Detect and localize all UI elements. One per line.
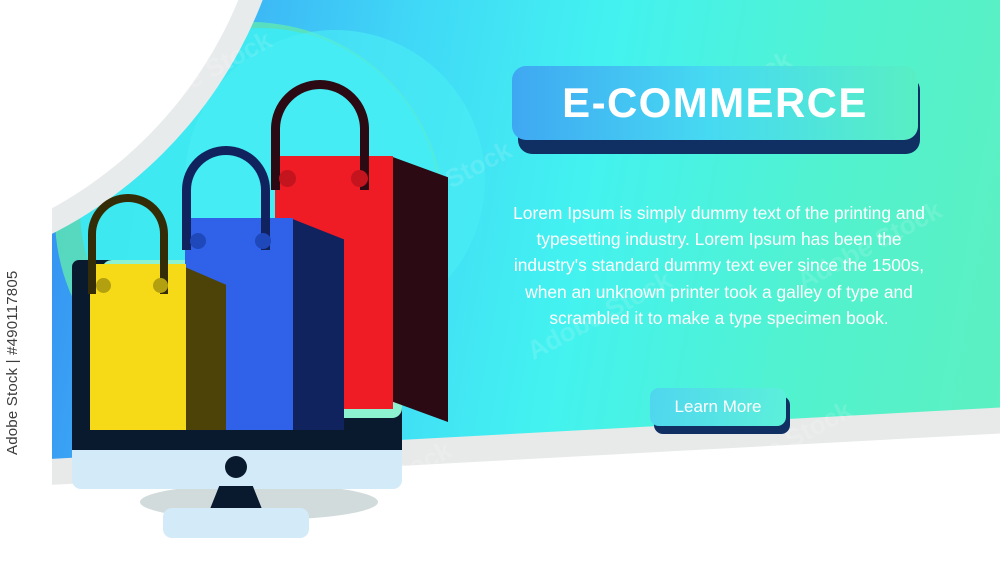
learn-more-button[interactable]: Learn More <box>650 388 790 430</box>
shopping-bag-blue-eyelet-left <box>190 233 206 249</box>
ecommerce-illustration <box>60 60 520 540</box>
shopping-bag-red-eyelet-right <box>351 170 368 187</box>
shopping-bag-red-eyelet-left <box>279 170 296 187</box>
body-paragraph: Lorem Ipsum is simply dummy text of the … <box>498 200 940 331</box>
shopping-bag-blue-gusset <box>290 218 344 456</box>
shopping-bag-blue-eyelet-right <box>255 233 271 249</box>
learn-more-button-face[interactable]: Learn More <box>650 388 786 426</box>
title-banner-face: E-COMMERCE <box>512 66 918 140</box>
monitor-logo-dot <box>225 456 247 478</box>
shopping-bag-yellow-eyelet-left <box>96 278 111 293</box>
shopping-bag-yellow-eyelet-right <box>153 278 168 293</box>
stock-watermark-strip: Adobe Stock | #490117805 <box>0 0 52 563</box>
bottom-fill-white <box>0 540 1000 563</box>
monitor-stand-base <box>163 508 309 538</box>
stock-watermark-label: Adobe Stock | #490117805 <box>4 155 21 455</box>
title-banner: E-COMMERCE <box>512 66 920 144</box>
monitor-bezel-bottom <box>72 430 402 450</box>
ecommerce-banner: Adobe Stock Adobe Stock Adobe Stock Adob… <box>0 0 1000 563</box>
learn-more-button-label: Learn More <box>675 397 762 417</box>
shopping-bag-red-gusset <box>390 156 448 422</box>
page-title: E-COMMERCE <box>562 79 868 127</box>
